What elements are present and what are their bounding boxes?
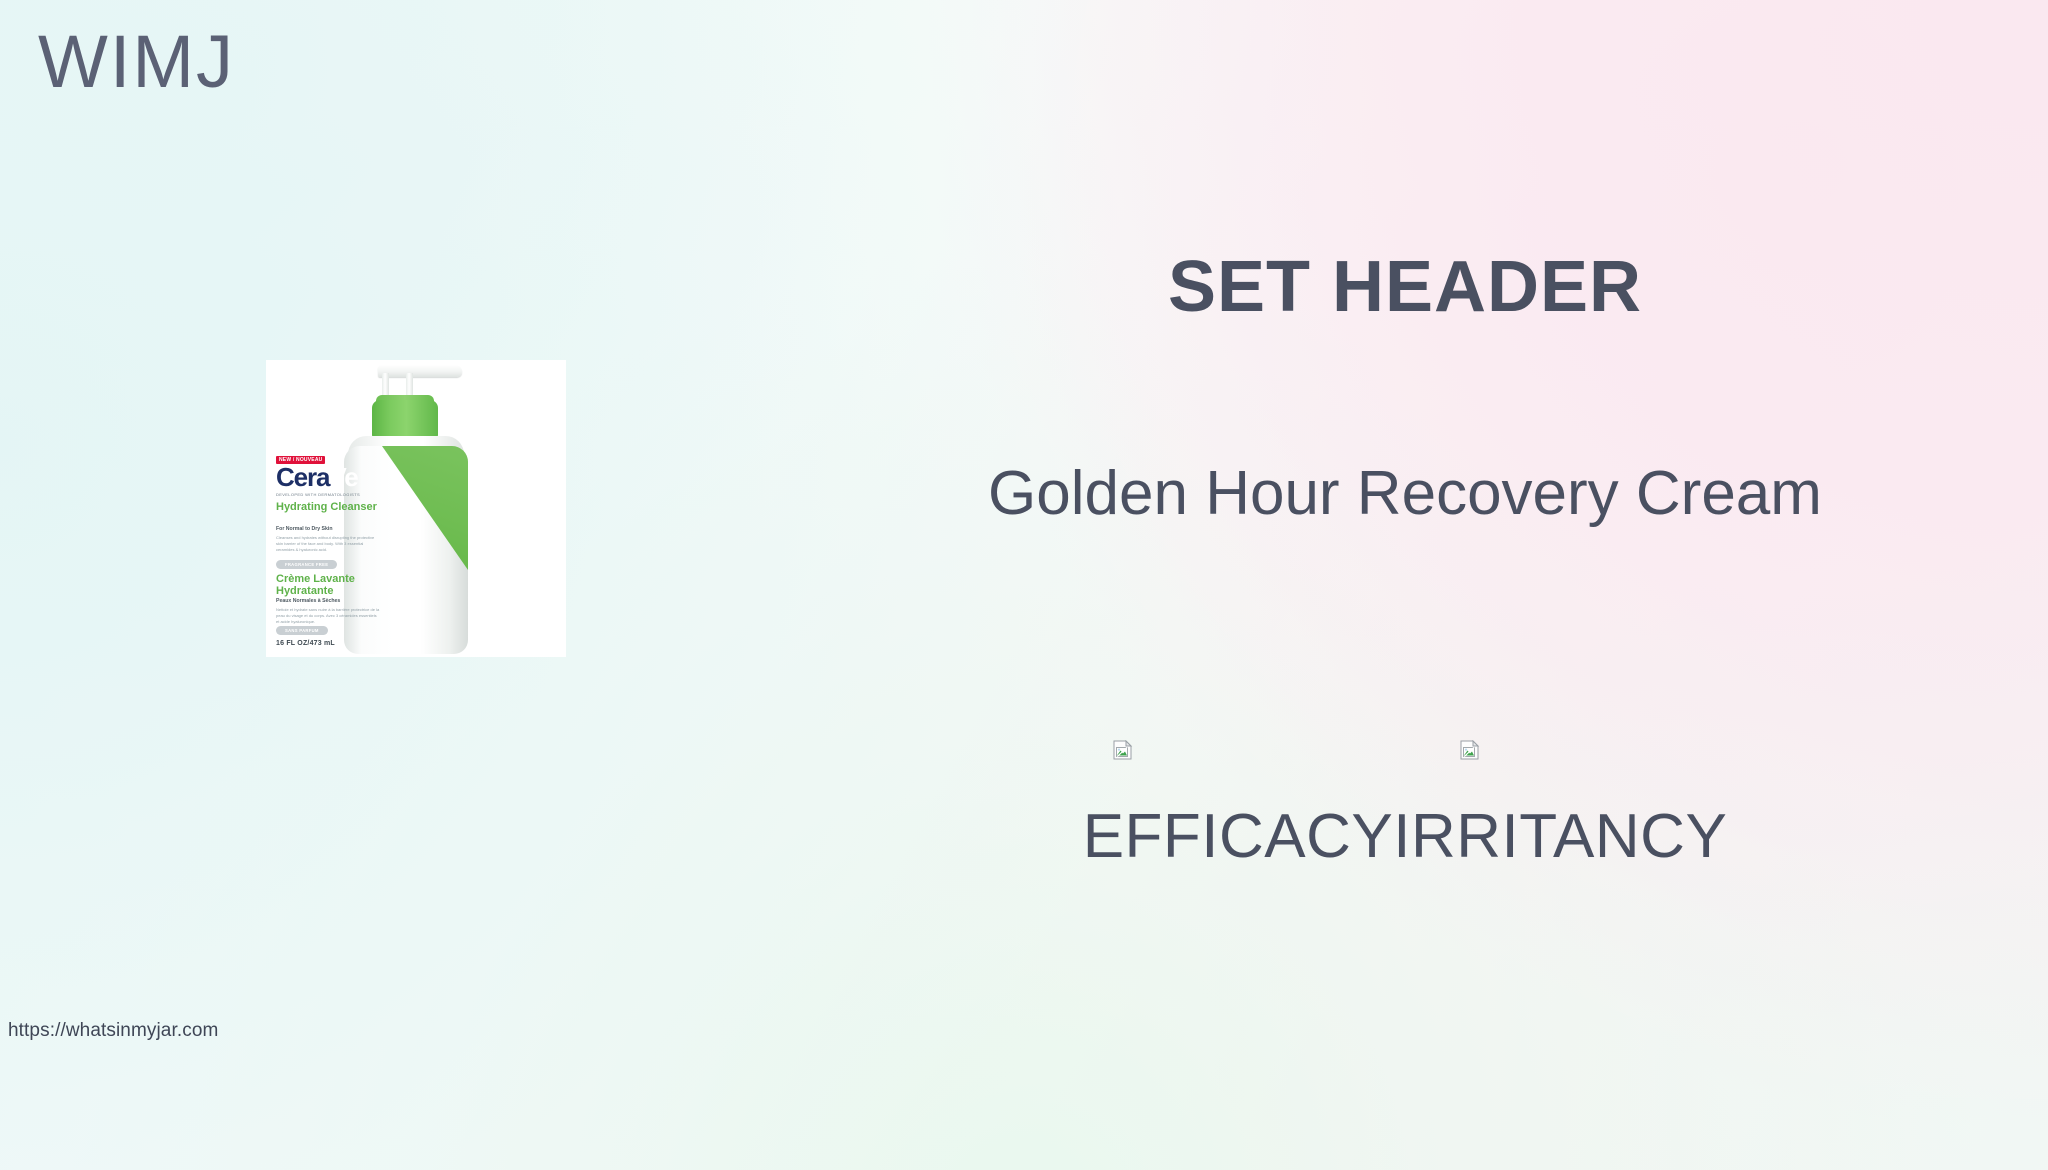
site-url: https://whatsinmyjar.com: [8, 1020, 218, 1042]
pump-handle: [378, 365, 462, 377]
bottle-new-badge-text: NEW / NOUVEAU: [276, 456, 325, 464]
bottle-brand-dark: Cera: [276, 462, 329, 492]
content-column: SET HEADER Golden Hour Recovery Cream EF…: [880, 0, 1930, 1170]
bottle-green-wedge: [344, 446, 468, 654]
set-header-title: SET HEADER: [880, 248, 1930, 327]
product-image-panel: NEW / NOUVEAU CeraVe DEVELOPED WITH DERM…: [266, 360, 566, 657]
wimj-wordmark: WIMJ: [38, 18, 235, 107]
metric-efficacy: EFFICACY: [1083, 740, 1394, 868]
page-title: Golden Hour Recovery Cream: [880, 458, 1930, 529]
metric-irritancy: IRRITANCY: [1393, 740, 1727, 868]
metric-label-irritancy: IRRITANCY: [1393, 806, 1727, 868]
irritancy-chart-image: [1460, 740, 1480, 760]
broken-image-icon: [1460, 740, 1480, 760]
broken-image-icon: [1113, 740, 1133, 760]
metric-label-efficacy: EFFICACY: [1083, 806, 1394, 868]
efficacy-chart-image: [1113, 740, 1133, 760]
bottle-pill-fr-text: SANS PARFUM: [276, 626, 328, 635]
pump-collar: [372, 400, 438, 440]
share-card: WIMJ NEW / NOUVEAU CeraVe DEVELOPED WITH…: [0, 0, 2048, 1170]
metrics-row: EFFICACY IRRITANCY: [880, 740, 1930, 868]
bottle-pill-en-text: FRAGRANCE FREE: [276, 560, 337, 569]
product-bottle-illustration: NEW / NOUVEAU CeraVe DEVELOPED WITH DERM…: [266, 360, 566, 657]
